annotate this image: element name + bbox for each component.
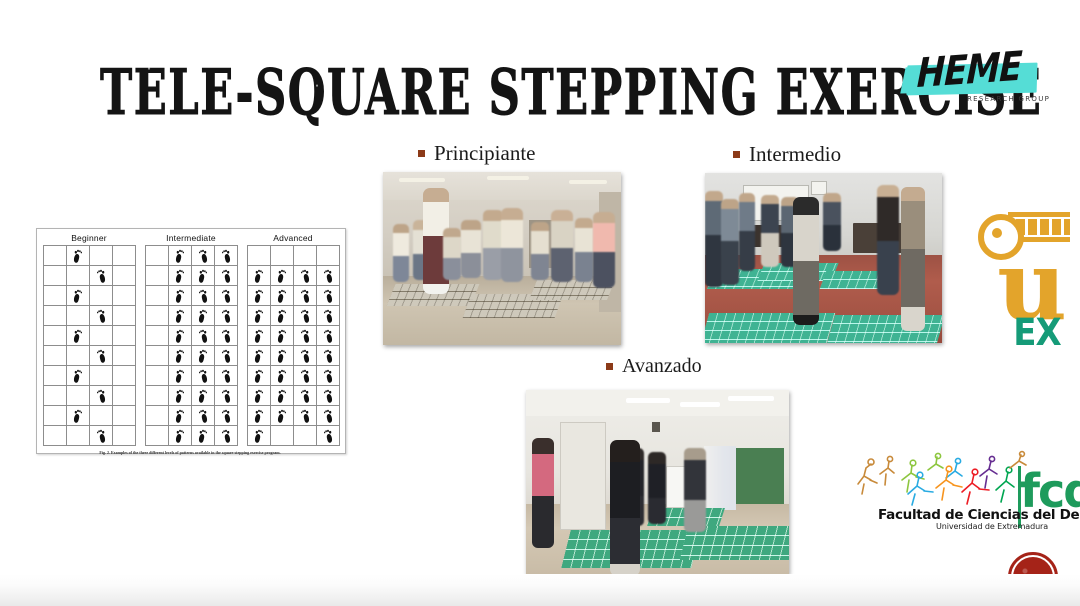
fcd-logo: Facultad de Ciencias del Deporte Univers… [850,450,1068,534]
pattern-cell [90,306,113,326]
label-intermedio: Intermedio [733,142,841,167]
pattern-cell [90,246,113,266]
left-footprint-icon [255,409,264,423]
pattern-cell [90,366,113,386]
pattern-cell [192,346,215,366]
pattern-cell [294,426,317,446]
left-footprint-icon [74,249,83,263]
pattern-cell [248,246,271,266]
right-footprint-icon [222,269,231,283]
pattern-cell [215,386,238,406]
pattern-cell [317,346,340,366]
pattern-cell [44,246,67,266]
pattern-cell [215,286,238,306]
right-footprint-icon [301,329,310,343]
label-intermedio-text: Intermedio [749,142,841,167]
heme-tagline: RESEARCH GROUP [967,95,1050,103]
right-footprint-icon [222,289,231,303]
pattern-column-intermediate: Intermediate [145,233,237,446]
pattern-cell [317,366,340,386]
right-footprint-icon [301,289,310,303]
right-footprint-icon [97,269,106,283]
right-footprint-icon [324,389,333,403]
left-footprint-icon [176,269,185,283]
left-footprint-icon [199,269,208,283]
left-footprint-icon [199,309,208,323]
pattern-cell [44,306,67,326]
pattern-grid [247,245,340,446]
pattern-cell [67,306,90,326]
pattern-cell [294,346,317,366]
square-stepping-pattern-figure: BeginnerIntermediateAdvanced [36,228,346,454]
pattern-cell [317,306,340,326]
left-footprint-icon [255,269,264,283]
label-principiante: Principiante [418,141,535,166]
pattern-cell [215,306,238,326]
pattern-cell [90,386,113,406]
left-footprint-icon [255,429,264,443]
pattern-cell [294,326,317,346]
figure-caption-area: Fig. 2. Examples of the three different … [36,450,344,455]
pattern-cell [67,286,90,306]
right-footprint-icon [301,309,310,323]
pattern-cell [113,306,136,326]
pattern-cell [169,366,192,386]
right-footprint-icon [97,389,106,403]
pattern-cell [113,346,136,366]
pattern-cell [271,386,294,406]
label-principiante-text: Principiante [434,141,535,166]
left-footprint-icon [176,409,185,423]
pattern-cell [248,346,271,366]
slide-bottom-strip [0,574,1080,606]
right-footprint-icon [324,429,333,443]
label-avanzado: Avanzado [606,355,702,378]
right-footprint-icon [222,369,231,383]
pattern-cell [271,366,294,386]
pattern-cell [271,346,294,366]
pattern-cell [248,406,271,426]
left-footprint-icon [278,289,287,303]
avanzado-photo [526,390,789,574]
pattern-cell [215,366,238,386]
pattern-cell [317,326,340,346]
pattern-cell [294,306,317,326]
left-footprint-icon [278,389,287,403]
bullet-square-icon [418,150,425,157]
pattern-cell [146,386,169,406]
pattern-cell [146,406,169,426]
right-footprint-icon [97,349,106,363]
pattern-cell [44,406,67,426]
right-footprint-icon [301,269,310,283]
pattern-cell [146,246,169,266]
pattern-cell [294,366,317,386]
pattern-cell [271,266,294,286]
pattern-cell [113,246,136,266]
right-footprint-icon [324,349,333,363]
pattern-grid [145,245,238,446]
pattern-cell [113,406,136,426]
pattern-cell [248,366,271,386]
pattern-cell [67,366,90,386]
pattern-cell [192,426,215,446]
pattern-cell [248,386,271,406]
pattern-cell [294,406,317,426]
pattern-cell [113,386,136,406]
pattern-cell [67,426,90,446]
left-footprint-icon [176,389,185,403]
pattern-cell [146,426,169,446]
pattern-cell [146,286,169,306]
right-footprint-icon [222,409,231,423]
pattern-cell [192,266,215,286]
pattern-column-header: Advanced [247,233,339,243]
pattern-cell [90,326,113,346]
pattern-cell [44,326,67,346]
left-footprint-icon [255,289,264,303]
pattern-cell [44,386,67,406]
pattern-cell [192,386,215,406]
right-footprint-icon [301,389,310,403]
pattern-columns: BeginnerIntermediateAdvanced [43,233,339,446]
pattern-cell [271,426,294,446]
left-footprint-icon [278,329,287,343]
right-footprint-icon [199,249,208,263]
pattern-cell [146,306,169,326]
bullet-square-icon [606,363,613,370]
right-footprint-icon [301,369,310,383]
right-footprint-icon [324,329,333,343]
pattern-cell [192,246,215,266]
pattern-cell [67,246,90,266]
pattern-cell [113,426,136,446]
pattern-cell [44,266,67,286]
pattern-cell [317,406,340,426]
pattern-cell [146,346,169,366]
bullet-square-icon [733,151,740,158]
pattern-column-beginner: Beginner [43,233,135,446]
pattern-cell [192,366,215,386]
pattern-cell [271,286,294,306]
right-footprint-icon [222,349,231,363]
pattern-column-advanced: Advanced [247,233,339,446]
pattern-cell [294,246,317,266]
pattern-cell [146,266,169,286]
left-footprint-icon [278,409,287,423]
pattern-grid [43,245,136,446]
right-footprint-icon [301,349,310,363]
pattern-cell [169,306,192,326]
slide-canvas: TELE-SQUARE STEPPING EXERCISE HEME RESEA… [0,0,1080,606]
heme-wordmark: HEME [916,43,1022,98]
pattern-cell [248,266,271,286]
right-footprint-icon [324,289,333,303]
pattern-cell [192,306,215,326]
left-footprint-icon [278,309,287,323]
pattern-cell [215,266,238,286]
right-footprint-icon [324,369,333,383]
column-capital-top [1008,212,1070,217]
pattern-cell [271,326,294,346]
heme-logo: HEME RESEARCH GROUP [905,56,1045,112]
pattern-cell [67,406,90,426]
pattern-cell [67,386,90,406]
right-footprint-icon [222,309,231,323]
pattern-cell [90,346,113,366]
title-area: TELE-SQUARE STEPPING EXERCISE [0,0,760,80]
left-footprint-icon [255,329,264,343]
left-footprint-icon [278,269,287,283]
pattern-cell [294,386,317,406]
left-footprint-icon [74,329,83,343]
pattern-cell [192,326,215,346]
figure-caption: Fig. 2. Examples of the three different … [36,450,344,455]
pattern-cell [67,346,90,366]
pattern-cell [90,266,113,286]
pattern-cell [169,406,192,426]
right-footprint-icon [222,249,231,263]
pattern-cell [294,286,317,306]
left-footprint-icon [278,369,287,383]
pattern-cell [215,246,238,266]
right-footprint-icon [222,429,231,443]
pattern-cell [215,426,238,446]
pattern-cell [317,266,340,286]
left-footprint-icon [74,289,83,303]
left-footprint-icon [176,289,185,303]
left-footprint-icon [176,249,185,263]
left-footprint-icon [199,389,208,403]
right-footprint-icon [324,409,333,423]
left-footprint-icon [176,369,185,383]
left-footprint-icon [255,389,264,403]
pattern-cell [113,366,136,386]
left-footprint-icon [74,409,83,423]
pattern-cell [113,326,136,346]
pattern-cell [67,326,90,346]
pattern-cell [248,426,271,446]
pattern-cell [169,386,192,406]
pattern-cell [317,426,340,446]
right-footprint-icon [222,329,231,343]
pattern-cell [90,426,113,446]
pattern-cell [146,366,169,386]
pattern-cell [192,286,215,306]
pattern-cell [215,346,238,366]
fcd-university-name: Universidad de Extremadura [936,522,1048,531]
pattern-column-header: Beginner [43,233,135,243]
right-footprint-icon [301,409,310,423]
pattern-cell [248,306,271,326]
pattern-cell [317,286,340,306]
pattern-cell [317,386,340,406]
pattern-cell [248,326,271,346]
right-footprint-icon [222,389,231,403]
left-footprint-icon [176,349,185,363]
uex-letters-ex: EX [1000,314,1074,351]
pattern-cell [90,286,113,306]
left-footprint-icon [74,369,83,383]
right-footprint-icon [97,429,106,443]
label-avanzado-text: Avanzado [622,355,702,378]
pattern-cell [271,306,294,326]
pattern-cell [169,326,192,346]
principiante-photo [383,172,621,345]
right-footprint-icon [199,369,208,383]
pattern-cell [169,246,192,266]
fcd-runner-figures-icon [850,450,1040,508]
left-footprint-icon [176,329,185,343]
right-footprint-icon [324,309,333,323]
pattern-column-header: Intermediate [145,233,237,243]
left-footprint-icon [199,429,208,443]
left-footprint-icon [255,369,264,383]
pattern-cell [169,266,192,286]
pattern-cell [44,366,67,386]
pattern-cell [169,346,192,366]
pattern-cell [248,286,271,306]
left-footprint-icon [176,309,185,323]
pattern-cell [44,426,67,446]
right-footprint-icon [199,289,208,303]
uex-logo: u EX [978,212,1074,357]
pattern-cell [271,246,294,266]
pattern-cell [294,266,317,286]
right-footprint-icon [199,329,208,343]
intermedio-photo [705,173,942,343]
pattern-cell [44,286,67,306]
fcd-wordmark: fcd [1020,468,1080,514]
right-footprint-icon [97,309,106,323]
pattern-cell [215,326,238,346]
left-footprint-icon [278,349,287,363]
pattern-cell [113,266,136,286]
pattern-cell [215,406,238,426]
pattern-cell [192,406,215,426]
left-footprint-icon [176,429,185,443]
pattern-cell [113,286,136,306]
pattern-cell [317,246,340,266]
pattern-cell [169,286,192,306]
pattern-cell [146,326,169,346]
left-footprint-icon [255,309,264,323]
pattern-cell [44,346,67,366]
pattern-cell [271,406,294,426]
right-footprint-icon [199,409,208,423]
left-footprint-icon [199,349,208,363]
right-footprint-icon [324,269,333,283]
pattern-cell [169,426,192,446]
left-footprint-icon [255,349,264,363]
pattern-cell [67,266,90,286]
pattern-cell [90,406,113,426]
